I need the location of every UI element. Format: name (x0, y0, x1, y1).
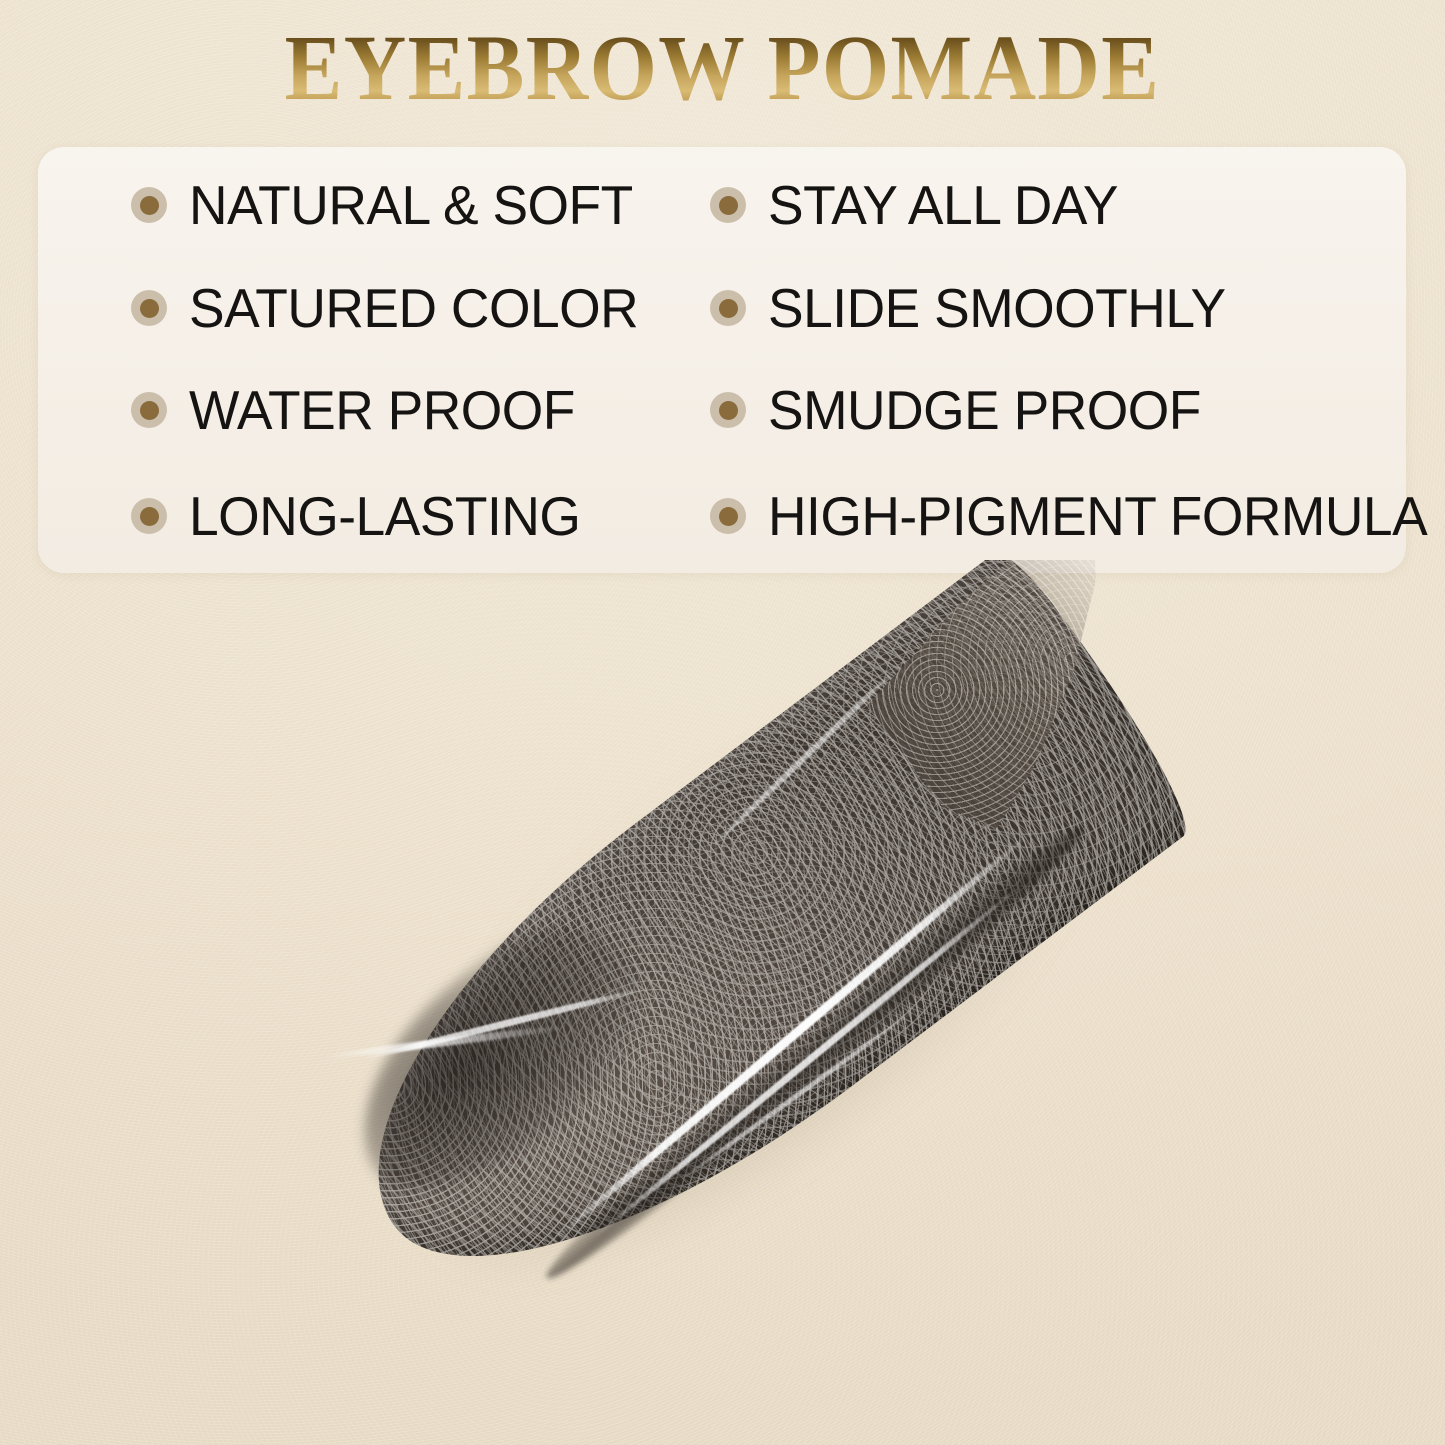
feature-label: SMUDGE PROOF (768, 383, 1201, 438)
pomade-swatch (264, 560, 1236, 1389)
features-card: NATURAL & SOFT SATURED COLOR WATER PROOF… (38, 147, 1406, 573)
feature-label: SLIDE SMOOTHLY (768, 281, 1226, 336)
feature-item-high-pigment-formula: HIGH-PIGMENT FORMULA (710, 487, 1445, 545)
feature-item-stay-all-day: STAY ALL DAY (710, 176, 1129, 234)
features-grid: NATURAL & SOFT SATURED COLOR WATER PROOF… (38, 147, 1406, 573)
feature-label: HIGH-PIGMENT FORMULA (768, 489, 1427, 544)
feature-item-natural-soft: NATURAL & SOFT (131, 176, 647, 234)
swatch-shimmer-texture (288, 560, 1211, 1357)
product-marketing-image: EYEBROW POMADE NATURAL & SOFT SATURED CO… (0, 0, 1445, 1445)
bullet-dot-icon (710, 498, 746, 534)
feature-label: WATER PROOF (189, 383, 575, 438)
feature-label: NATURAL & SOFT (189, 178, 633, 233)
feature-label: LONG-LASTING (189, 489, 580, 544)
feature-label: STAY ALL DAY (768, 178, 1118, 233)
bullet-dot-icon (131, 187, 167, 223)
feature-item-smudge-proof: SMUDGE PROOF (710, 381, 1214, 439)
bullet-dot-icon (710, 392, 746, 428)
bullet-dot-icon (131, 290, 167, 326)
bullet-dot-icon (710, 290, 746, 326)
bullet-dot-icon (131, 392, 167, 428)
feature-item-satured-color: SATURED COLOR (131, 279, 652, 337)
bullet-dot-icon (710, 187, 746, 223)
page-title: EYEBROW POMADE (51, 22, 1395, 115)
feature-item-slide-smoothly: SLIDE SMOOTHLY (710, 279, 1240, 337)
bullet-dot-icon (131, 498, 167, 534)
product-swatch-image (0, 560, 1445, 1445)
feature-label: SATURED COLOR (189, 281, 638, 336)
feature-item-long-lasting: LONG-LASTING (131, 487, 593, 545)
feature-item-water-proof: WATER PROOF (131, 381, 587, 439)
